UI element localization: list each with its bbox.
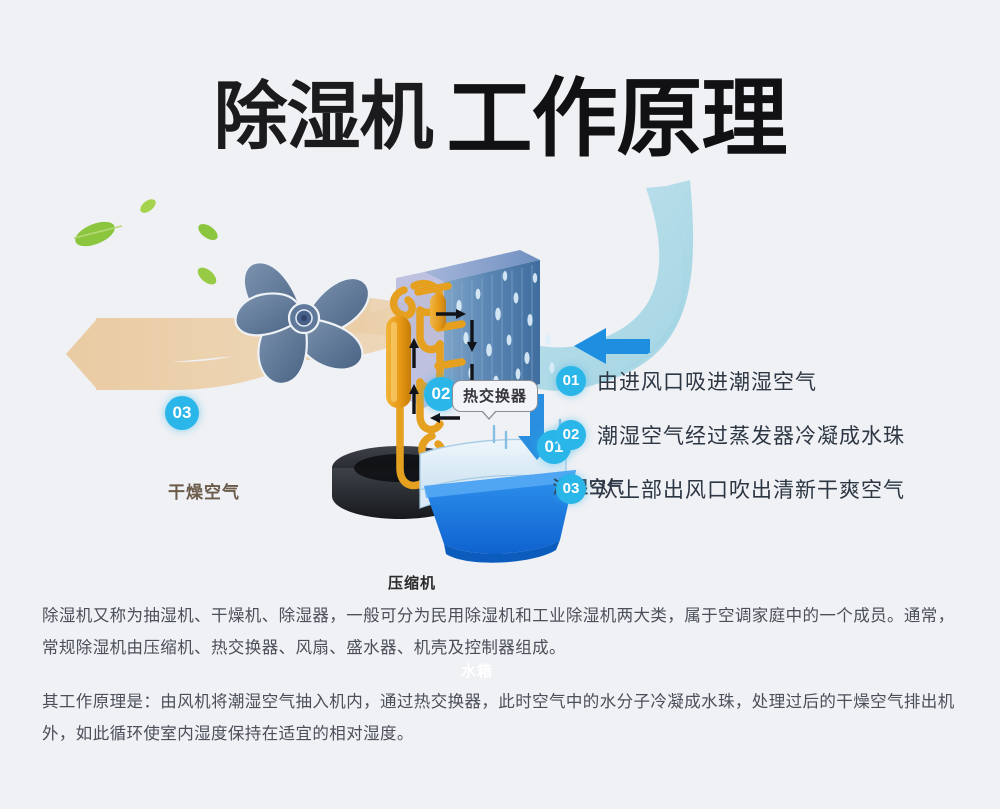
body-copy: 除湿机又称为抽湿机、干燥机、除湿器，一般可分为民用除湿机和工业除湿机两大类，属于… <box>42 600 958 750</box>
legend-item-01: 01 由进风口吸进潮湿空气 <box>556 366 956 396</box>
legend-text-02: 潮湿空气经过蒸发器冷凝成水珠 <box>597 420 905 450</box>
body-paragraph-1: 除湿机又称为抽湿机、干燥机、除湿器，一般可分为民用除湿机和工业除湿机两大类，属于… <box>42 600 958 664</box>
infographic-page: 除湿机工作原理 <box>0 0 1000 809</box>
refrigerant-cylinder <box>386 316 411 408</box>
callout-heat-exchanger: 热交换器 <box>452 380 538 412</box>
legend-badge-01: 01 <box>556 366 586 396</box>
page-title: 除湿机工作原理 <box>0 48 1000 173</box>
callout-heat-exchanger-label: 热交换器 <box>463 388 527 405</box>
label-dry-air: 干燥空气 <box>168 478 240 503</box>
callout-tail-icon <box>481 411 497 420</box>
legend-text-03: 从上部出风口吹出清新干爽空气 <box>597 474 905 504</box>
legend-list: 01 由进风口吸进潮湿空气 02 潮湿空气经过蒸发器冷凝成水珠 03 从上部出风… <box>556 366 956 528</box>
label-compressor: 压缩机 <box>388 572 436 593</box>
legend-badge-02: 02 <box>556 420 586 450</box>
page-title-part2: 工作原理 <box>447 71 787 167</box>
legend-item-02: 02 潮湿空气经过蒸发器冷凝成水珠 <box>556 420 956 450</box>
legend-badge-03: 03 <box>556 474 586 504</box>
leaf-icon-group <box>72 197 221 288</box>
legend-text-01: 由进风口吸进潮湿空气 <box>597 366 817 396</box>
body-paragraph-2: 其工作原理是：由风机将潮湿空气抽入机内，通过热交换器，此时空气中的水分子冷凝成水… <box>42 686 958 750</box>
diagram-badge-03: 03 <box>165 396 199 430</box>
legend-item-03: 03 从上部出风口吹出清新干爽空气 <box>556 474 956 504</box>
refrigerant-cylinder-small <box>430 294 446 330</box>
page-title-part1: 除湿机 <box>214 75 433 158</box>
